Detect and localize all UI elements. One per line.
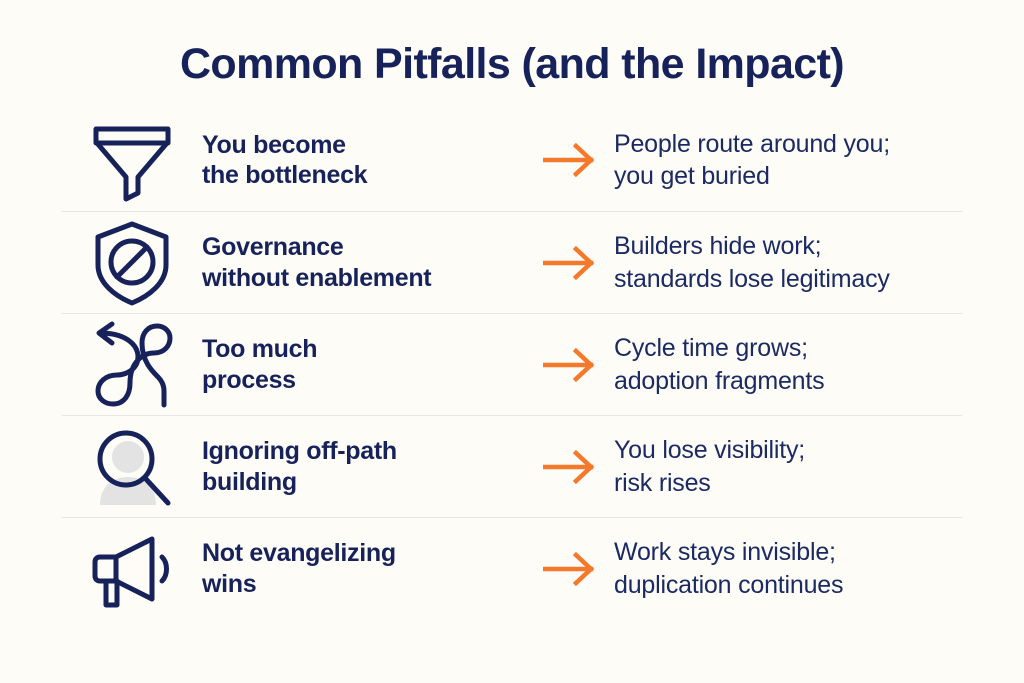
impact-line-1: Builders hide work; [614, 232, 821, 260]
arrow-right-icon [528, 552, 614, 586]
impact-line-2: standards lose legitimacy [614, 263, 962, 296]
impact-label: Work stays invisible; duplication contin… [614, 536, 962, 601]
pitfalls-infographic: Common Pitfalls (and the Impact) You bec… [0, 0, 1024, 683]
pitfall-label: Ignoring off-path building [202, 436, 528, 497]
megaphone-icon [62, 523, 202, 615]
pitfall-label: Not evangelizing wins [202, 538, 528, 599]
pitfall-line-2: wins [202, 569, 520, 600]
impact-label: People route around you; you get buried [614, 128, 962, 193]
impact-label: Cycle time grows; adoption fragments [614, 332, 962, 397]
impact-line-2: adoption fragments [614, 365, 962, 398]
page-title: Common Pitfalls (and the Impact) [0, 0, 1024, 87]
arrow-right-icon [528, 143, 614, 177]
impact-line-1: Work stays invisible; [614, 538, 836, 566]
shield-prohibited-icon [62, 217, 202, 309]
magnifier-person-icon [62, 421, 202, 513]
pitfall-line-2: the bottleneck [202, 160, 520, 191]
list-item: Too much process Cycle time grows; adopt… [62, 313, 962, 415]
list-item: You become the bottleneck People route a… [62, 109, 962, 211]
pitfall-label: You become the bottleneck [202, 130, 528, 191]
impact-line-1: Cycle time grows; [614, 334, 808, 362]
pitfall-line-1: Too much [202, 335, 317, 363]
pitfall-line-1: Ignoring off-path [202, 437, 397, 465]
impact-line-1: You lose visibility; [614, 436, 805, 464]
impact-label: Builders hide work; standards lose legit… [614, 230, 962, 295]
impact-line-2: duplication continues [614, 569, 962, 602]
arrow-right-icon [528, 246, 614, 280]
list-item: Not evangelizing wins Work stays invisib… [62, 517, 962, 619]
list-item: Governance without enablement Builders h… [62, 211, 962, 313]
pitfall-line-2: building [202, 467, 520, 498]
pitfall-line-1: Governance [202, 233, 344, 261]
pitfall-line-2: process [202, 365, 520, 396]
funnel-icon [62, 114, 202, 206]
arrow-right-icon [528, 450, 614, 484]
impact-line-2: risk rises [614, 467, 962, 500]
pitfall-label: Too much process [202, 334, 528, 395]
pitfall-line-1: Not evangelizing [202, 539, 396, 567]
pitfall-label: Governance without enablement [202, 232, 528, 293]
pitfall-line-1: You become [202, 131, 346, 159]
pitfalls-list: You become the bottleneck People route a… [0, 109, 1024, 619]
impact-line-1: People route around you; [614, 130, 890, 158]
pitfall-line-2: without enablement [202, 263, 520, 294]
list-item: Ignoring off-path building You lose visi… [62, 415, 962, 517]
impact-label: You lose visibility; risk rises [614, 434, 962, 499]
impact-line-2: you get buried [614, 160, 962, 193]
arrow-right-icon [528, 348, 614, 382]
tangled-process-icon [62, 319, 202, 411]
